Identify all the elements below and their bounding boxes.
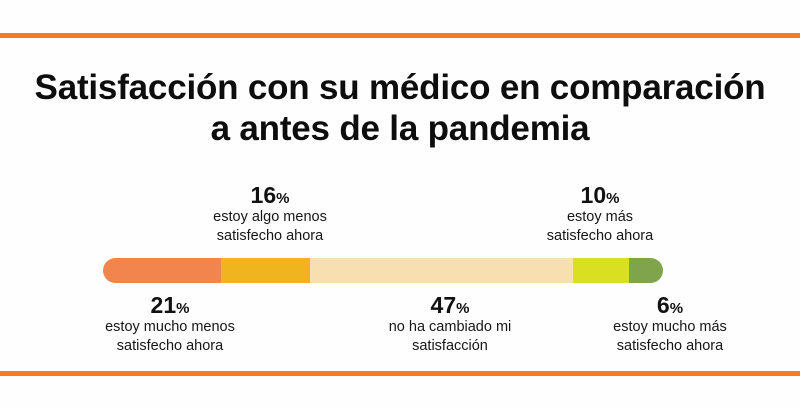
stacked-bar-wrapper — [103, 258, 663, 283]
bar-segment-mucho-mas — [629, 258, 663, 283]
description-line-1: estoy algo menos — [170, 208, 370, 227]
percent-symbol: % — [276, 190, 289, 207]
callout-mas: 10% estoy más satisfecho ahora — [500, 183, 700, 245]
bar-segment-algo-menos — [221, 258, 311, 283]
infographic-canvas: Satisfacción con su médico en comparació… — [0, 0, 800, 409]
description-line-2: satisfecho ahora — [55, 337, 285, 356]
callout-algo-menos: 16% estoy algo menos satisfecho ahora — [170, 183, 370, 245]
percent-symbol: % — [176, 300, 189, 317]
description-line-1: estoy mucho menos — [55, 318, 285, 337]
callout-percent-mas: 10% — [500, 183, 700, 207]
callout-description-mas: estoy más satisfecho ahora — [500, 208, 700, 245]
callout-mucho-mas: 6% estoy mucho más satisfecho ahora — [560, 293, 780, 355]
callout-description-algo-menos: estoy algo menos satisfecho ahora — [170, 208, 370, 245]
top-accent-rule — [0, 33, 800, 38]
title-line-1: Satisfacción con su médico en comparació… — [30, 68, 770, 109]
bottom-accent-rule — [0, 371, 800, 376]
page-title: Satisfacción con su médico en comparació… — [30, 68, 770, 150]
stacked-bar — [103, 258, 663, 283]
callout-percent-algo-menos: 16% — [170, 183, 370, 207]
callout-no-cambiado: 47% no ha cambiado mi satisfacción — [345, 293, 555, 355]
percent-value: 6 — [657, 292, 670, 318]
title-line-2: a antes de la pandemia — [30, 109, 770, 150]
callout-percent-no-cambiado: 47% — [345, 293, 555, 317]
percent-value: 10 — [581, 182, 607, 208]
bar-segment-mucho-menos — [103, 258, 221, 283]
bar-segment-mas — [573, 258, 629, 283]
callout-percent-mucho-mas: 6% — [560, 293, 780, 317]
percent-symbol: % — [456, 300, 469, 317]
callout-description-mucho-menos: estoy mucho menos satisfecho ahora — [55, 318, 285, 355]
description-line-2: satisfacción — [345, 337, 555, 356]
percent-symbol: % — [606, 190, 619, 207]
callout-description-mucho-mas: estoy mucho más satisfecho ahora — [560, 318, 780, 355]
description-line-2: satisfecho ahora — [560, 337, 780, 356]
description-line-1: estoy mucho más — [560, 318, 780, 337]
callout-description-no-cambiado: no ha cambiado mi satisfacción — [345, 318, 555, 355]
percent-value: 21 — [151, 292, 177, 318]
callout-percent-mucho-menos: 21% — [55, 293, 285, 317]
description-line-1: no ha cambiado mi — [345, 318, 555, 337]
description-line-2: satisfecho ahora — [170, 227, 370, 246]
percent-value: 16 — [251, 182, 277, 208]
description-line-2: satisfecho ahora — [500, 227, 700, 246]
callout-mucho-menos: 21% estoy mucho menos satisfecho ahora — [55, 293, 285, 355]
percent-value: 47 — [431, 292, 457, 318]
bar-segment-no-cambiado — [310, 258, 573, 283]
percent-symbol: % — [670, 300, 683, 317]
description-line-1: estoy más — [500, 208, 700, 227]
